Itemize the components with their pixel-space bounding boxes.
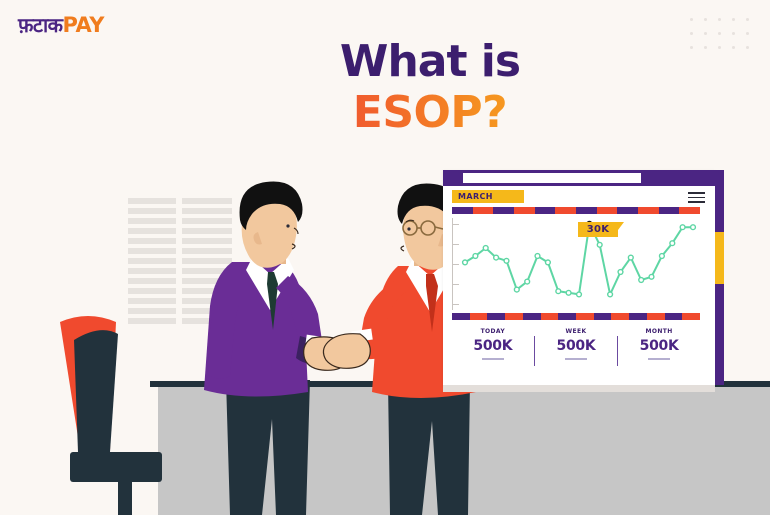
chart-point	[504, 258, 509, 263]
page-title: What is ESOP?	[300, 40, 560, 136]
menu-icon[interactable]	[688, 192, 705, 206]
chart-point	[556, 289, 561, 294]
dashboard-stand	[443, 385, 715, 392]
chart-point	[473, 254, 478, 259]
dashboard-screen: MARCH 30K TODAY 500K	[443, 170, 715, 385]
stat-underline	[648, 358, 670, 360]
chart-point	[577, 292, 582, 297]
dashboard-side-accent-yellow	[715, 232, 724, 284]
chart-point	[639, 278, 644, 283]
chart-point	[670, 241, 675, 246]
chart-point	[628, 255, 633, 260]
dashboard-topbar	[443, 170, 715, 186]
brand-logo[interactable]: फ़टाक PAY	[18, 15, 104, 36]
stat-week: WEEK 500K	[535, 328, 617, 372]
chart-point	[514, 287, 519, 292]
title-line-esop: ESOP?	[300, 90, 560, 136]
chart-point	[649, 274, 654, 279]
chart-point	[463, 260, 468, 265]
stat-label: TODAY	[481, 328, 506, 335]
chart-point	[535, 254, 540, 259]
stats-row: TODAY 500K WEEK 500K MONTH 500K	[452, 328, 700, 372]
stat-month: MONTH 500K	[618, 328, 700, 372]
dot-grid-decoration	[690, 18, 760, 60]
chart-point	[691, 225, 696, 230]
chart-point	[525, 279, 530, 284]
dashboard-side-accent	[715, 170, 724, 385]
chart-tooltip: 30K	[578, 222, 618, 237]
line-chart: 30K	[452, 218, 700, 310]
office-chair	[60, 316, 162, 515]
stat-label: MONTH	[646, 328, 673, 335]
title-line-what-is: What is	[300, 40, 560, 84]
stat-value: 500K	[557, 338, 596, 354]
stat-underline	[565, 358, 587, 360]
poster-canvas: फ़टाक PAY What is ESOP? MARCH	[0, 0, 770, 515]
chart-point	[483, 246, 488, 251]
search-input[interactable]	[463, 173, 641, 183]
stat-today: TODAY 500K	[452, 328, 534, 372]
logo-hindi-text: फ़टाक	[18, 15, 63, 35]
chart-point	[597, 242, 602, 247]
month-badge: MARCH	[452, 190, 524, 203]
chart-point	[494, 255, 499, 260]
stat-underline	[482, 358, 504, 360]
chart-point	[546, 260, 551, 265]
chart-point	[618, 270, 623, 275]
stat-label: WEEK	[565, 328, 586, 335]
chart-point	[566, 290, 571, 295]
segment-bar-top	[452, 207, 700, 214]
segment-bar-bottom	[452, 313, 700, 320]
stat-value: 500K	[473, 338, 512, 354]
chart-point	[608, 292, 613, 297]
logo-pay-text: PAY	[63, 15, 104, 36]
stat-value: 500K	[640, 338, 679, 354]
chart-point	[660, 254, 665, 259]
chart-point	[680, 225, 685, 230]
